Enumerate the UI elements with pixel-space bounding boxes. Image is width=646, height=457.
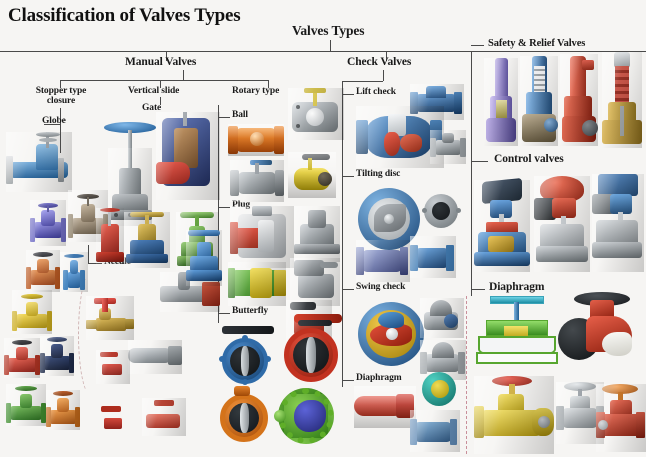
leaf-label-globe: Globe bbox=[42, 117, 66, 127]
connector-control-valves bbox=[471, 161, 488, 162]
category-check-valves: Check Valves bbox=[347, 56, 411, 68]
control-valve-red-actuator bbox=[534, 176, 590, 272]
leaf-label-swing-check: Swing check bbox=[356, 283, 405, 293]
leaf-connector-tilting-disc bbox=[342, 176, 354, 177]
manual-valves-bus bbox=[60, 80, 268, 81]
gate-valve-red-tall bbox=[96, 208, 124, 264]
check-valves-bus bbox=[342, 81, 383, 82]
globe-valve-orange bbox=[26, 250, 60, 292]
page-title: Classification of Valves Types bbox=[8, 6, 240, 26]
ball-valve-cutaway-steel bbox=[288, 88, 344, 140]
leaf-label-ball: Ball bbox=[232, 111, 248, 121]
diaphragm-valve-orange bbox=[596, 384, 646, 452]
gate-valve-brass-blue-base bbox=[124, 212, 170, 268]
subcategory-stopper-type: Stopper type closure bbox=[24, 87, 98, 106]
globe-valve-green bbox=[6, 384, 46, 426]
subcategory-rotary-type: Rotary type bbox=[232, 87, 279, 97]
needle-valve-red-pink bbox=[142, 398, 186, 436]
subcategory-vertical-slide: Vertical slide bbox=[128, 87, 179, 97]
swing-check-valve-steel bbox=[420, 298, 464, 338]
leaf-connector-plug bbox=[218, 207, 230, 208]
tilting-disc-check-lilac bbox=[356, 240, 410, 282]
globe-valve-cutaway-large bbox=[6, 132, 72, 192]
lift-check-valve-steel-small bbox=[430, 130, 466, 164]
safety-relief-valve-blue bbox=[520, 56, 558, 146]
needle-spine bbox=[88, 245, 89, 263]
needle-valve-red-small bbox=[96, 350, 130, 384]
connector-safety-relief bbox=[471, 45, 484, 46]
root-connector-stem bbox=[330, 40, 331, 51]
category-control-valves: Control valves bbox=[494, 153, 564, 165]
globe-valve-orange-2 bbox=[46, 390, 80, 430]
needle-valve-red-tiny bbox=[96, 406, 132, 438]
ball-valve-orange-flanged bbox=[228, 124, 284, 156]
check-diaphragm-blue-grey bbox=[410, 410, 460, 452]
plug-valve-steel-top bbox=[294, 206, 340, 262]
globe-valve-navy bbox=[40, 336, 74, 376]
globe-valve-yellow bbox=[12, 290, 52, 334]
ball-valve-yellow-lever bbox=[288, 152, 336, 198]
root-node-label: Valves Types bbox=[292, 24, 364, 38]
butterfly-valve-blue bbox=[216, 326, 278, 388]
safety-relief-valve-brass bbox=[602, 52, 642, 148]
globe-valve-red bbox=[4, 338, 40, 378]
check-diaphragm-teal bbox=[418, 368, 464, 412]
control-valve-blue-actuator bbox=[474, 180, 530, 272]
safety-relief-valve-purple bbox=[484, 58, 518, 146]
check-diaphragm-red-cylinder bbox=[354, 386, 416, 428]
plug-valve-cutaway-red-white bbox=[230, 206, 294, 268]
safety-relief-valve-red bbox=[560, 54, 598, 146]
gate-valve-blue-flanged bbox=[186, 230, 222, 286]
leaf-label-tilting-disc: Tilting disc bbox=[356, 170, 400, 180]
diaphragm-valve-red-cutaway bbox=[558, 292, 642, 376]
needle-valve-brass-red-handle bbox=[86, 296, 134, 340]
leaf-label-butterfly: Butterfly bbox=[232, 307, 268, 317]
leaf-label-lift-check: Lift check bbox=[356, 88, 396, 98]
check-valves-stem bbox=[383, 70, 384, 81]
globe-valve-blue bbox=[30, 200, 66, 246]
leaf-label-check-diaphragm: Diaphragm bbox=[356, 374, 402, 384]
gate-valve-cutaway-blue-red bbox=[156, 112, 220, 200]
leaf-connector-butterfly bbox=[218, 313, 230, 314]
gate-valve-blue-small bbox=[60, 252, 88, 292]
control-valve-blue-steel bbox=[592, 174, 644, 272]
tilting-disc-check-steel bbox=[420, 190, 464, 230]
plug-valve-steel-gearbox bbox=[290, 258, 340, 306]
butterfly-valve-red bbox=[278, 314, 346, 386]
category-diaphragm-group: Diaphragm bbox=[489, 281, 544, 293]
separator-diaphragm-section bbox=[466, 296, 467, 454]
manual-valves-stem bbox=[183, 70, 184, 80]
category-manual-valves: Manual Valves bbox=[125, 56, 196, 68]
diaphragm-valve-yellow bbox=[474, 376, 554, 454]
valve-classification-infographic: Classification of Valves Types Valves Ty… bbox=[0, 0, 646, 457]
gate-valve-blue-handwheel-top bbox=[104, 118, 156, 152]
needle-valve-grey-cylinder bbox=[128, 340, 182, 374]
root-connector-bus bbox=[0, 51, 646, 52]
connector-diaphragm-group bbox=[471, 289, 485, 290]
ball-valve-steel-handle bbox=[230, 160, 284, 202]
tilting-disc-check-blue-flanged bbox=[410, 236, 456, 278]
butterfly-valve-green-wafer bbox=[274, 384, 340, 448]
diaphragm-valve-green-schematic bbox=[476, 296, 560, 374]
leg-right-column bbox=[471, 51, 472, 296]
category-safety-relief-valves: Safety & Relief Valves bbox=[488, 38, 585, 49]
leaf-connector-swing-check bbox=[342, 289, 354, 290]
plug-valve-green-yellow-cutaway bbox=[228, 262, 286, 306]
butterfly-valve-orange bbox=[216, 386, 274, 444]
